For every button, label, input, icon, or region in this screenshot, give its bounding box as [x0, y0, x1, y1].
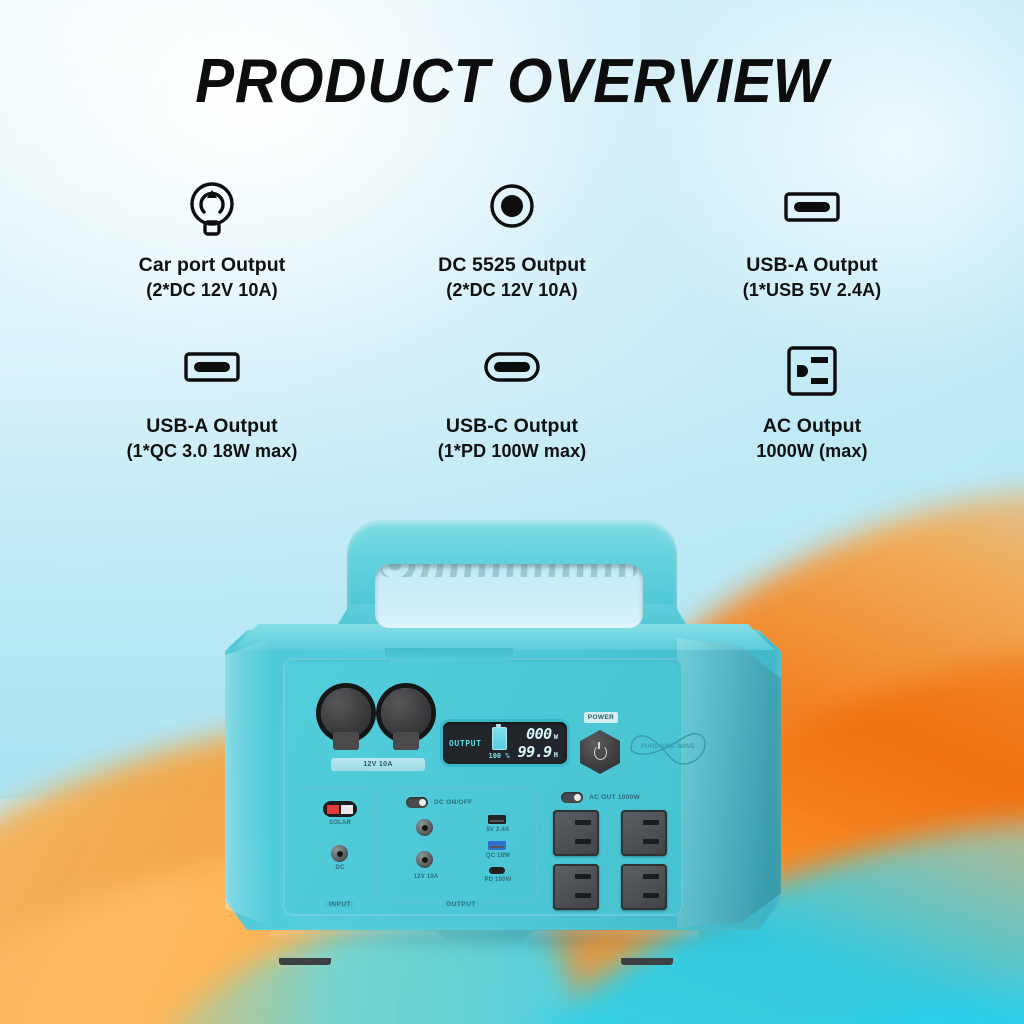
lcd-time-value: 99.9 [518, 743, 552, 761]
feature-car-port: Car port Output (2*DC 12V 10A) [62, 172, 362, 301]
outlet-slot [643, 874, 659, 879]
outlet-slot [575, 893, 591, 898]
lcd-readouts: 000 W 99.9 H [518, 725, 558, 761]
panel-notch [385, 648, 513, 662]
feature-title: DC 5525 Output [438, 254, 586, 277]
input-section-caption: INPUT [325, 901, 355, 908]
sine-wave-graphic [625, 726, 711, 774]
sine-wave-label: PURE SINE WAVE [629, 744, 707, 750]
ac-section: AC OUT 1000W [545, 788, 685, 900]
usb-a-qc-label: QC 18W [472, 853, 524, 859]
page-title: PRODUCT OVERVIEW [31, 46, 994, 117]
ac-outlet-top-right[interactable] [621, 810, 667, 856]
usb-c-port-pd[interactable] [489, 867, 505, 874]
feature-usb-c: USB-C Output (1*PD 100W max) [362, 333, 662, 462]
usb-a-5v-label: 5V 2.4A [472, 827, 524, 833]
usb-c-icon [477, 333, 547, 409]
feature-subtitle: (1*PD 100W max) [438, 441, 587, 462]
feature-dc-5525: DC 5525 Output (2*DC 12V 10A) [362, 172, 662, 301]
product-foot-right [621, 958, 673, 965]
ac-switch-knob [574, 794, 581, 801]
feature-subtitle: (1*USB 5V 2.4A) [743, 280, 882, 301]
feature-title: Car port Output [139, 254, 286, 277]
outlet-slot [575, 839, 591, 844]
product-foot-left [279, 958, 331, 965]
lcd-time-unit: H [554, 751, 558, 759]
dc-input-label: DC [304, 865, 376, 871]
feature-subtitle: (2*DC 12V 10A) [446, 280, 577, 301]
outlet-slot [643, 893, 659, 898]
lcd-power-unit: W [554, 733, 558, 741]
dc-input-jack[interactable] [331, 845, 348, 862]
handle-grip-ridges [381, 564, 637, 577]
ac-output-switch[interactable] [561, 792, 583, 803]
usb-a-port-qc[interactable] [488, 841, 506, 850]
feature-usb-a-5v: USB-A Output (1*USB 5V 2.4A) [662, 172, 962, 301]
car-port-right[interactable] [381, 688, 431, 738]
ac-outlet-top-left[interactable] [553, 810, 599, 856]
dc-output-jack-bottom[interactable] [416, 851, 433, 868]
feature-title: USB-C Output [446, 415, 578, 438]
outlet-slot [643, 839, 659, 844]
product-left-bevel [225, 638, 271, 926]
feature-title: AC Output [763, 415, 861, 438]
power-icon [594, 745, 607, 760]
output-section-caption: OUTPUT [442, 901, 480, 908]
dc-output-jack-top[interactable] [416, 819, 433, 836]
feature-subtitle: 1000W (max) [756, 441, 867, 462]
lcd-time-row: 99.9 H [518, 743, 558, 761]
solar-input-connector[interactable] [323, 801, 357, 817]
usb-a-port-5v[interactable] [488, 815, 506, 824]
car-port-cover-tab [333, 732, 359, 750]
outlet-slot [643, 820, 659, 825]
outlet-slot [575, 874, 591, 879]
lcd-mode-label: OUTPUT [449, 739, 482, 748]
outlet-slot [575, 820, 591, 825]
product-right-side [677, 638, 781, 928]
dc-on-off-switch[interactable] [406, 797, 428, 808]
car-port-cover-tab [393, 732, 419, 750]
ac-outlet-icon [781, 333, 843, 409]
car-port-label: 12V 10A [331, 758, 425, 771]
solar-terminal-positive [327, 805, 339, 814]
dc-on-off-label: DC ON/OFF [434, 799, 472, 806]
feature-subtitle: (1*QC 3.0 18W max) [127, 441, 298, 462]
car-port-icon [180, 172, 244, 248]
feature-subtitle: (2*DC 12V 10A) [146, 280, 277, 301]
input-section: INPUT SOLAR DC [303, 788, 377, 902]
dc-5525-icon [480, 172, 544, 248]
feature-grid: Car port Output (2*DC 12V 10A) DC 5525 O… [62, 172, 962, 462]
battery-icon [492, 727, 507, 750]
usb-a-icon [777, 172, 847, 248]
power-label: POWER [584, 712, 618, 723]
ac-outlet-bottom-right[interactable] [621, 864, 667, 910]
dc-switch-knob [419, 799, 426, 806]
solar-terminal-negative [341, 805, 353, 814]
dc-output-label: 12V 10A [398, 874, 454, 880]
feature-usb-a-qc: USB-A Output (1*QC 3.0 18W max) [62, 333, 362, 462]
poster-canvas: PRODUCT OVERVIEW Car port Output (2*DC 1… [0, 0, 1024, 1024]
feature-ac-output: AC Output 1000W (max) [662, 333, 962, 462]
ac-outlet-bottom-left[interactable] [553, 864, 599, 910]
usb-a-icon [177, 333, 247, 409]
lcd-power-row: 000 W [526, 725, 558, 743]
car-port-left[interactable] [321, 688, 371, 738]
feature-title: USB-A Output [146, 415, 278, 438]
product-image: 12V 10A OUTPUT 100 % 000 W 99.9 H POWER [225, 520, 805, 960]
ac-output-label: AC OUT 1000W [589, 794, 640, 801]
solar-label: SOLAR [304, 820, 376, 826]
lcd-battery-group: 100 % [489, 727, 510, 760]
feature-title: USB-A Output [746, 254, 878, 277]
lcd-power-value: 000 [526, 725, 552, 743]
lcd-display: OUTPUT 100 % 000 W 99.9 H [443, 722, 567, 764]
lcd-battery-percent: 100 % [489, 752, 510, 760]
output-section: OUTPUT DC ON/OFF 12V 10A 5V 2.4A QC 18W … [385, 788, 537, 902]
usb-c-pd-label: PD 100W [470, 877, 526, 883]
